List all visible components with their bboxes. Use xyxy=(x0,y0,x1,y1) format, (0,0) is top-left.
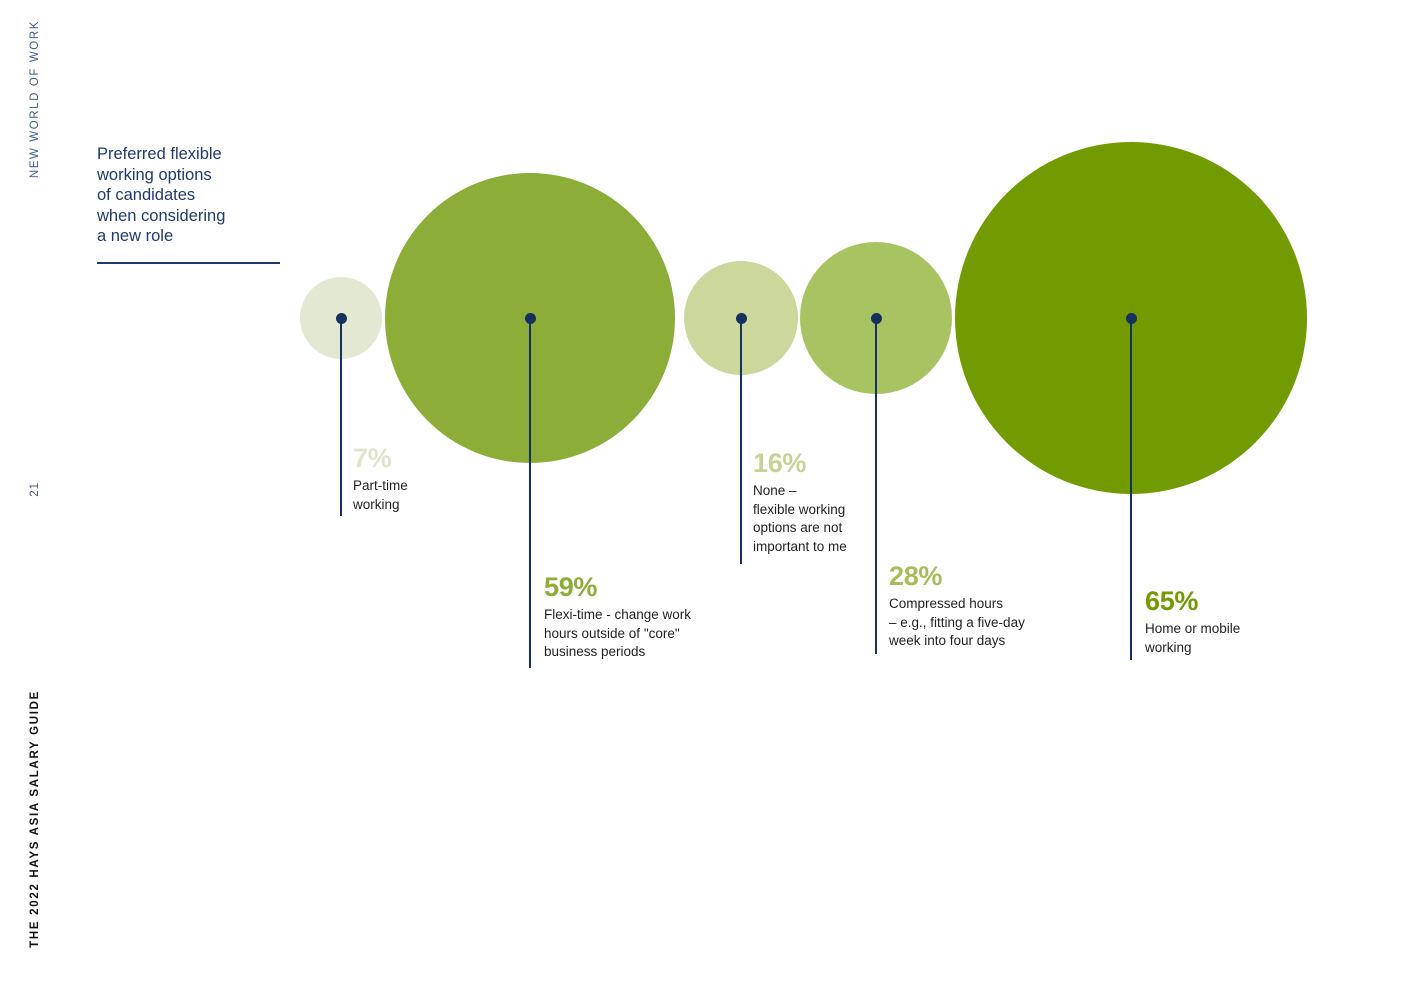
callout-2: 59%Flexi-time - change work hours outsid… xyxy=(544,572,691,662)
infographic-page: NEW WORLD OF WORK 21 THE 2022 HAYS ASIA … xyxy=(0,0,1403,992)
callout-description-2: Flexi-time - change work hours outside o… xyxy=(544,606,691,662)
callout-1: 7%Part-time working xyxy=(353,443,408,514)
node-dot-3 xyxy=(736,313,747,324)
leader-line-4 xyxy=(875,318,877,654)
callout-3: 16%None – flexible working options are n… xyxy=(753,448,847,556)
node-dot-2 xyxy=(525,313,536,324)
bubble-chart: 7%Part-time working59%Flexi-time - chang… xyxy=(0,0,1403,992)
callout-5: 65%Home or mobile working xyxy=(1145,586,1240,657)
callout-description-1: Part-time working xyxy=(353,477,408,514)
node-dot-4 xyxy=(871,313,882,324)
callout-percent-1: 7% xyxy=(353,443,408,473)
callout-4: 28%Compressed hours – e.g., fitting a fi… xyxy=(889,561,1025,651)
callout-description-5: Home or mobile working xyxy=(1145,620,1240,657)
callout-percent-2: 59% xyxy=(544,572,691,602)
callout-percent-4: 28% xyxy=(889,561,1025,591)
callout-description-3: None – flexible working options are not … xyxy=(753,482,847,556)
leader-line-3 xyxy=(740,318,742,564)
leader-line-2 xyxy=(529,318,531,668)
node-dot-1 xyxy=(336,313,347,324)
callout-description-4: Compressed hours – e.g., fitting a five-… xyxy=(889,595,1025,651)
callout-percent-5: 65% xyxy=(1145,586,1240,616)
leader-line-5 xyxy=(1130,318,1132,660)
node-dot-5 xyxy=(1126,313,1137,324)
callout-percent-3: 16% xyxy=(753,448,847,478)
leader-line-1 xyxy=(340,318,342,516)
